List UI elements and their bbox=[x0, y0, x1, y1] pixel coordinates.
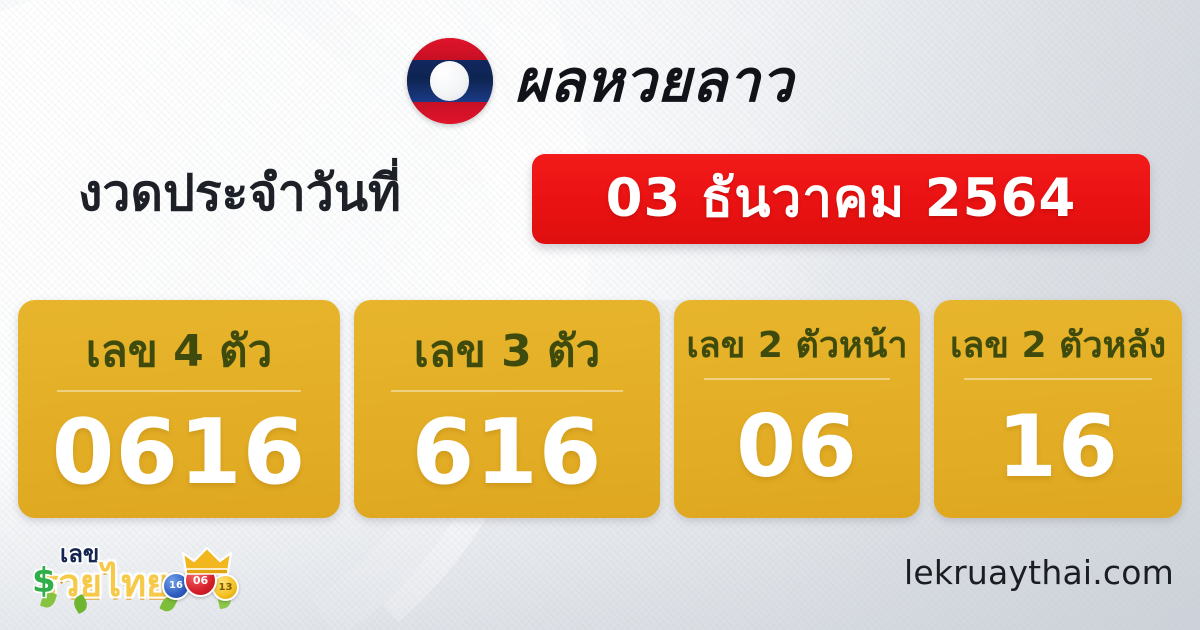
result-card-label: เลข 3 ตัว bbox=[414, 320, 601, 384]
page-footer: $ เลข รวยไทย 16 13 06 lekruaythai.com bbox=[0, 530, 1200, 630]
result-card-value: 616 bbox=[412, 388, 603, 518]
result-card-value: 0616 bbox=[52, 388, 307, 518]
result-card-label: เลข 2 ตัวหน้า bbox=[686, 320, 907, 372]
result-card-label: เลข 2 ตัวหลัง bbox=[950, 320, 1166, 372]
brand-logo[interactable]: $ เลข รวยไทย 16 13 06 bbox=[22, 536, 247, 612]
laos-flag-circle-icon bbox=[407, 38, 493, 124]
result-card-2-digit-back[interactable]: เลข 2 ตัวหลัง 16 bbox=[934, 300, 1182, 518]
flag-stripe-bottom bbox=[407, 102, 493, 124]
result-card-4-digit[interactable]: เลข 4 ตัว 0616 bbox=[18, 300, 340, 518]
result-card-value: 16 bbox=[997, 376, 1119, 518]
result-card-3-digit[interactable]: เลข 3 ตัว 616 bbox=[354, 300, 660, 518]
flag-stripe-top bbox=[407, 38, 493, 60]
page-header: ผลหวยลาว bbox=[0, 26, 1200, 136]
result-card-label: เลข 4 ตัว bbox=[86, 320, 273, 384]
flag-white-disc bbox=[430, 61, 470, 101]
crown-icon bbox=[182, 546, 232, 580]
draw-date-value: 03 ธันวาคม 2564 bbox=[606, 162, 1077, 236]
result-card-value: 06 bbox=[736, 376, 858, 518]
draw-date-banner: 03 ธันวาคม 2564 bbox=[532, 154, 1150, 244]
draw-date-label: งวดประจำวันที่ bbox=[78, 156, 401, 231]
website-url[interactable]: lekruaythai.com bbox=[904, 552, 1174, 595]
draw-date-row: งวดประจำวันที่ 03 ธันวาคม 2564 bbox=[0, 150, 1200, 250]
brand-logo-main-text: รวยไทย bbox=[38, 558, 168, 609]
page-title: ผลหวยลาว bbox=[515, 52, 794, 110]
result-cards: เลข 4 ตัว 0616 เลข 3 ตัว 616 เลข 2 ตัวหน… bbox=[0, 300, 1200, 520]
dollar-sign-icon: $ bbox=[32, 564, 56, 598]
result-card-2-digit-front[interactable]: เลข 2 ตัวหน้า 06 bbox=[674, 300, 920, 518]
